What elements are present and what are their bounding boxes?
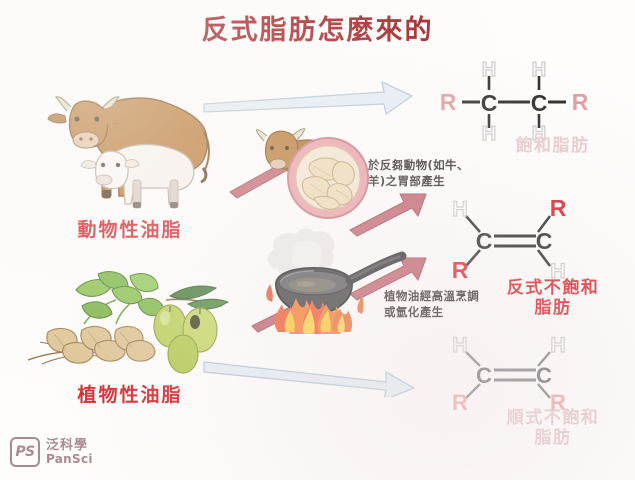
trans-fat-structure: C C H R R H [432,202,602,282]
atom-upper-right-H: H [550,334,565,357]
atom-c2-top-H: H [532,59,546,81]
saturated-fat-label: 飽和脂肪 [480,136,625,156]
atom-c1: C [476,228,493,254]
cis-fat-label-line2: 脂肪 [478,428,628,448]
trans-fat-label: 反式不飽和 脂肪 [478,278,628,318]
frying-pan-over-flame-illustration [262,228,412,338]
trans-fat-label-line1: 反式不飽和 [478,278,628,298]
cow-stomach-closeup-illustration [256,128,378,224]
atom-c2: C [536,363,552,388]
atom-upper-left-H: H [452,198,467,221]
blue-arrow-animal-to-saturated [198,78,423,120]
atom-upper-right-R: R [550,195,567,221]
blue-arrow-plant-to-cis [198,352,423,397]
atom-upper-left-H: H [452,334,467,357]
saturated-fat-structure: R C C R H H H H [424,62,604,142]
frying-process-caption: 植物油經高溫烹調或氫化產生 [384,288,488,321]
atom-c1-top-H: H [482,59,496,81]
atom-c2: C [531,90,548,116]
animal-fat-label: 動物性油脂 [20,215,240,242]
atom-lower-left-R: R [452,390,468,415]
atom-c2: C [536,228,553,254]
pansci-logo-text: 泛科學 PanSci [46,439,93,465]
trans-fat-label-line2: 脂肪 [478,298,628,318]
atom-lower-left-R: R [452,257,469,283]
pansci-logo-mark: PS [10,437,40,467]
cow-and-sheep-illustration [38,62,223,217]
pansci-logo-english: PanSci [46,453,93,466]
page-title: 反式脂肪怎麼來的 [0,8,635,47]
atom-right-R: R [572,89,589,115]
infographic-poster: 反式脂肪怎麼來的 [0,0,635,480]
atom-c1: C [481,90,498,116]
atom-c1: C [476,363,492,388]
rumen-process-caption: 於反芻動物(如牛、羊)之胃部產生 [368,157,472,190]
pansci-logo-chinese: 泛科學 [46,439,93,453]
atom-left-R: R [440,89,457,115]
cis-fat-label-line1: 順式不飽和 [478,408,628,428]
cis-fat-label: 順式不飽和 脂肪 [478,408,628,448]
pansci-logo: PS 泛科學 PanSci [10,437,93,467]
cis-fat-structure: C C H H R R [432,340,602,412]
